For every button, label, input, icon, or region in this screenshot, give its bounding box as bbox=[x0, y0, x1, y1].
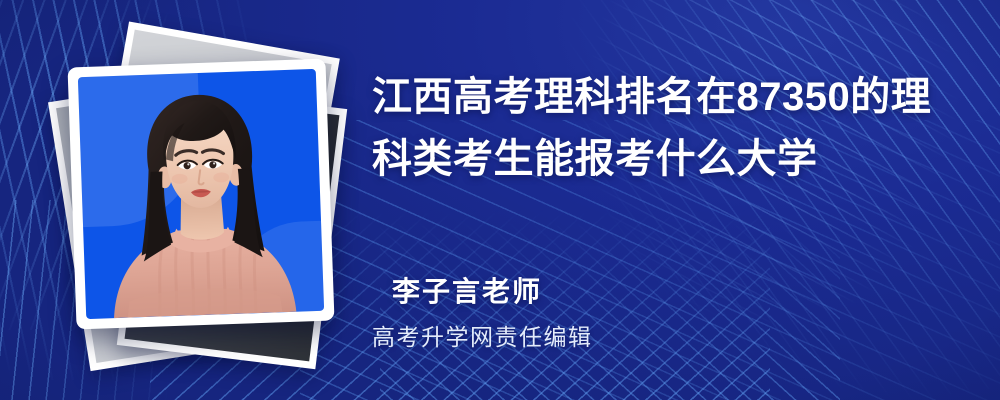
photo-card-stack bbox=[62, 38, 352, 368]
article-cover-banner: 江西高考理科排名在87350的理科类考生能报考什么大学 李子言老师 高考升学网责… bbox=[0, 0, 1000, 400]
author-photo-card bbox=[68, 59, 335, 330]
author-role: 高考升学网责任编辑 bbox=[372, 318, 593, 352]
author-portrait-illustration bbox=[78, 69, 324, 319]
author-name: 李子言老师 bbox=[392, 270, 542, 310]
text-content: 江西高考理科排名在87350的理科类考生能报考什么大学 李子言老师 高考升学网责… bbox=[372, 0, 972, 400]
author-photo bbox=[78, 69, 324, 319]
page-title: 江西高考理科排名在87350的理科类考生能报考什么大学 bbox=[372, 66, 952, 190]
